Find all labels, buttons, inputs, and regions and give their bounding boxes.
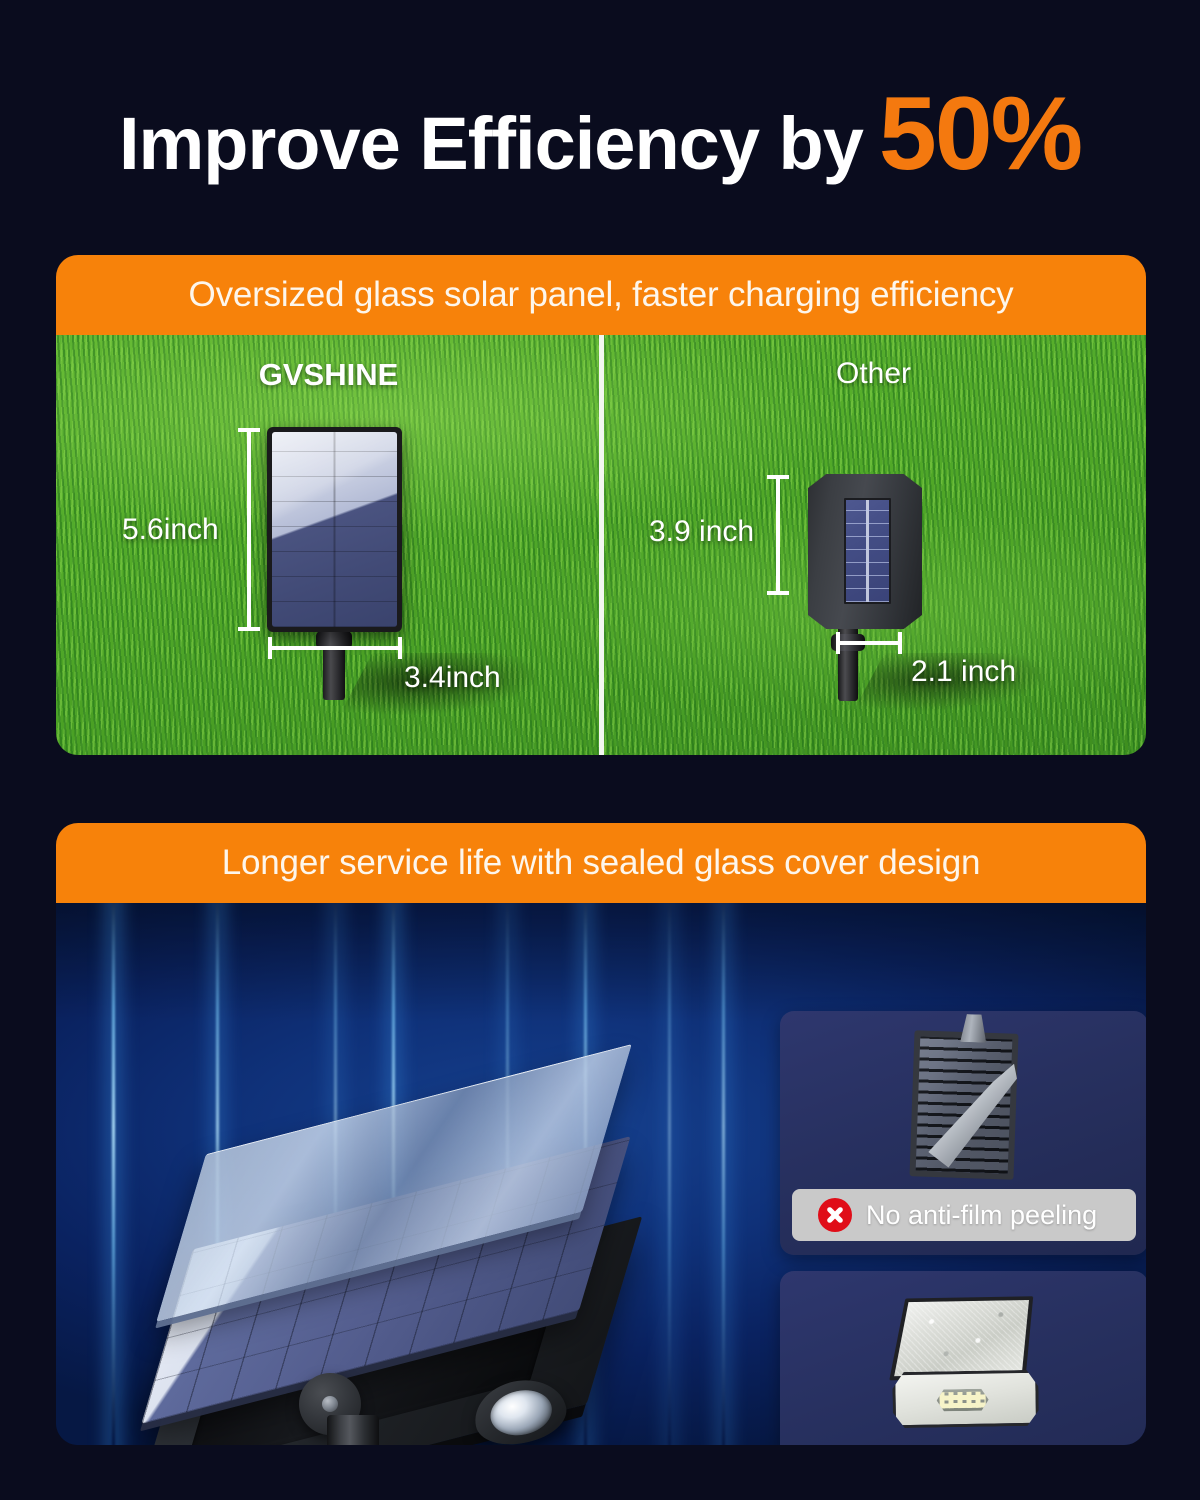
section-sealed-glass-design: Longer service life with sealed glass co…: [56, 823, 1146, 1445]
gvshine-solar-panel: [267, 427, 402, 632]
page-title: Improve Efficiency by 50%: [0, 82, 1200, 202]
other-height-label: 3.9 inch: [649, 515, 754, 549]
red-x-icon: [818, 1198, 852, 1232]
exploded-view-stage: No anti-film peeling No anti-whitish: [56, 903, 1146, 1445]
defect-card-film-peeling: No anti-film peeling: [780, 1011, 1146, 1255]
hazy-panel-surface: [889, 1296, 1033, 1380]
other-height-dimension-line: [776, 475, 780, 595]
whitish-hazy-lamp-photo: [883, 1294, 1045, 1435]
gvshine-panel-glass: [272, 432, 397, 627]
light-streak-icon: [112, 903, 115, 1445]
gvshine-width-dimension-line: [268, 646, 402, 650]
defect-label-text: No anti-film peeling: [866, 1200, 1097, 1231]
comparison-label-other: Other: [601, 357, 1146, 391]
grass-comparison-stage: GVSHINE 5.6inch 3.4inch: [56, 335, 1146, 755]
gvshine-product-illustration: 5.6inch 3.4inch: [56, 335, 601, 755]
hazy-led-cluster: [936, 1389, 988, 1412]
other-solar-cell: [844, 498, 891, 604]
comparison-panel-other: Other 3.9 inch 2.1 inch: [601, 335, 1146, 755]
lamp-lens: [486, 1385, 556, 1441]
section-one-banner-text: Oversized glass solar panel, faster char…: [189, 275, 1014, 315]
section-two-banner-text: Longer service life with sealed glass co…: [222, 843, 980, 883]
light-streak-icon: [722, 903, 725, 1445]
defect-card-whitish: No anti-whitish: [780, 1271, 1146, 1445]
gvshine-height-label: 5.6inch: [122, 513, 219, 547]
light-streak-icon: [668, 903, 671, 1445]
other-width-label: 2.1 inch: [911, 655, 1016, 689]
section-size-comparison: Oversized glass solar panel, faster char…: [56, 255, 1146, 755]
other-width-dimension-line: [836, 641, 902, 645]
gvshine-height-dimension-line: [247, 428, 251, 631]
section-one-banner: Oversized glass solar panel, faster char…: [56, 255, 1146, 335]
other-product-illustration: 3.9 inch 2.1 inch: [601, 335, 1146, 755]
section-two-banner: Longer service life with sealed glass co…: [56, 823, 1146, 903]
mounting-pole: [327, 1415, 379, 1445]
gvshine-panel-reflection: [272, 432, 397, 588]
defect-photo-film-peeling: [780, 1011, 1146, 1189]
comparison-label-gvshine: GVSHINE: [56, 357, 601, 393]
gvshine-width-label: 3.4inch: [404, 661, 501, 695]
page-title-accent: 50%: [879, 82, 1081, 186]
panel-stem: [960, 1014, 987, 1043]
defect-photo-whitish: [780, 1271, 1146, 1445]
comparison-divider: [599, 335, 604, 755]
infographic-page: Improve Efficiency by 50% Oversized glas…: [0, 0, 1200, 1500]
defect-label-film-peeling: No anti-film peeling: [792, 1189, 1136, 1241]
page-title-main: Improve Efficiency by: [119, 107, 863, 181]
comparison-panel-gvshine: GVSHINE 5.6inch 3.4inch: [56, 335, 601, 755]
peeling-film: [928, 1061, 1018, 1170]
peeling-film-panel-photo: [909, 1030, 1018, 1180]
